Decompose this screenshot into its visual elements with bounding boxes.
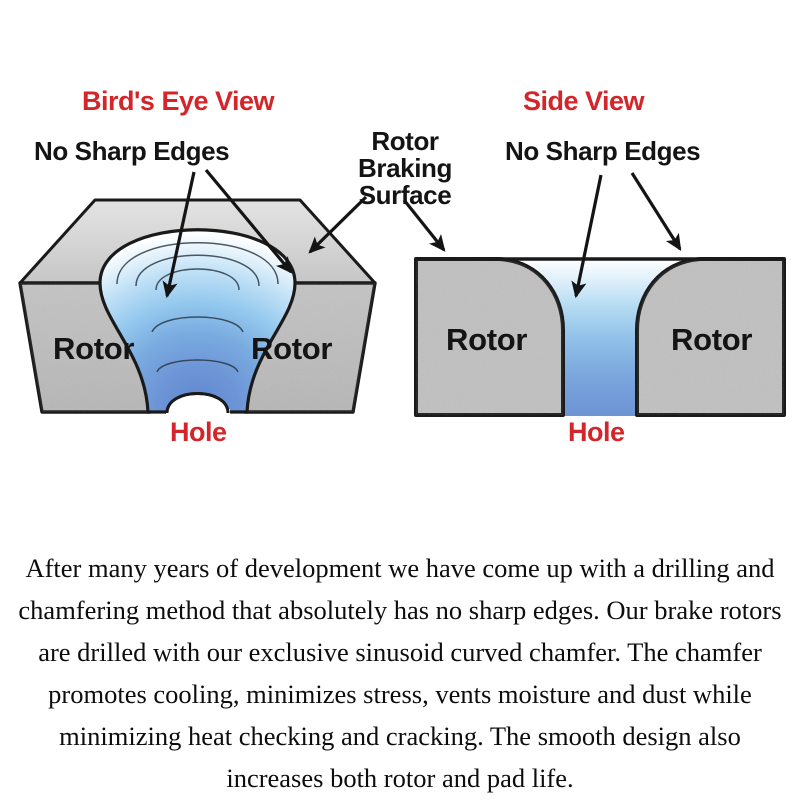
label-no-sharp-edges-side-view: No Sharp Edges [505,138,700,165]
diagram-area: Bird's Eye View Side View No Sharp Edges… [0,0,800,480]
side-view-illustration [404,173,785,416]
label-hole-birds-eye: Hole [170,419,227,447]
side-view-title: Side View [523,88,644,116]
label-rotor-birds-eye-left: Rotor [53,333,134,365]
rotor-chamfer-infographic: Bird's Eye View Side View No Sharp Edges… [0,0,800,800]
arrow-nse-right-outer [632,173,680,249]
birds-eye-view-illustration [20,170,375,416]
description-paragraph: After many years of development we have … [0,547,800,799]
label-rotor-braking-surface: Rotor Braking Surface [345,128,465,208]
diagram-illustration [0,0,800,480]
label-rotor-side-view-right: Rotor [671,324,752,356]
birds-eye-view-title: Bird's Eye View [82,88,274,116]
label-rotor-side-view-left: Rotor [446,324,527,356]
label-hole-side-view: Hole [568,419,625,447]
label-no-sharp-edges-birds-eye: No Sharp Edges [34,138,229,165]
label-rotor-birds-eye-right: Rotor [251,333,332,365]
hole-notch-mask [166,409,230,416]
